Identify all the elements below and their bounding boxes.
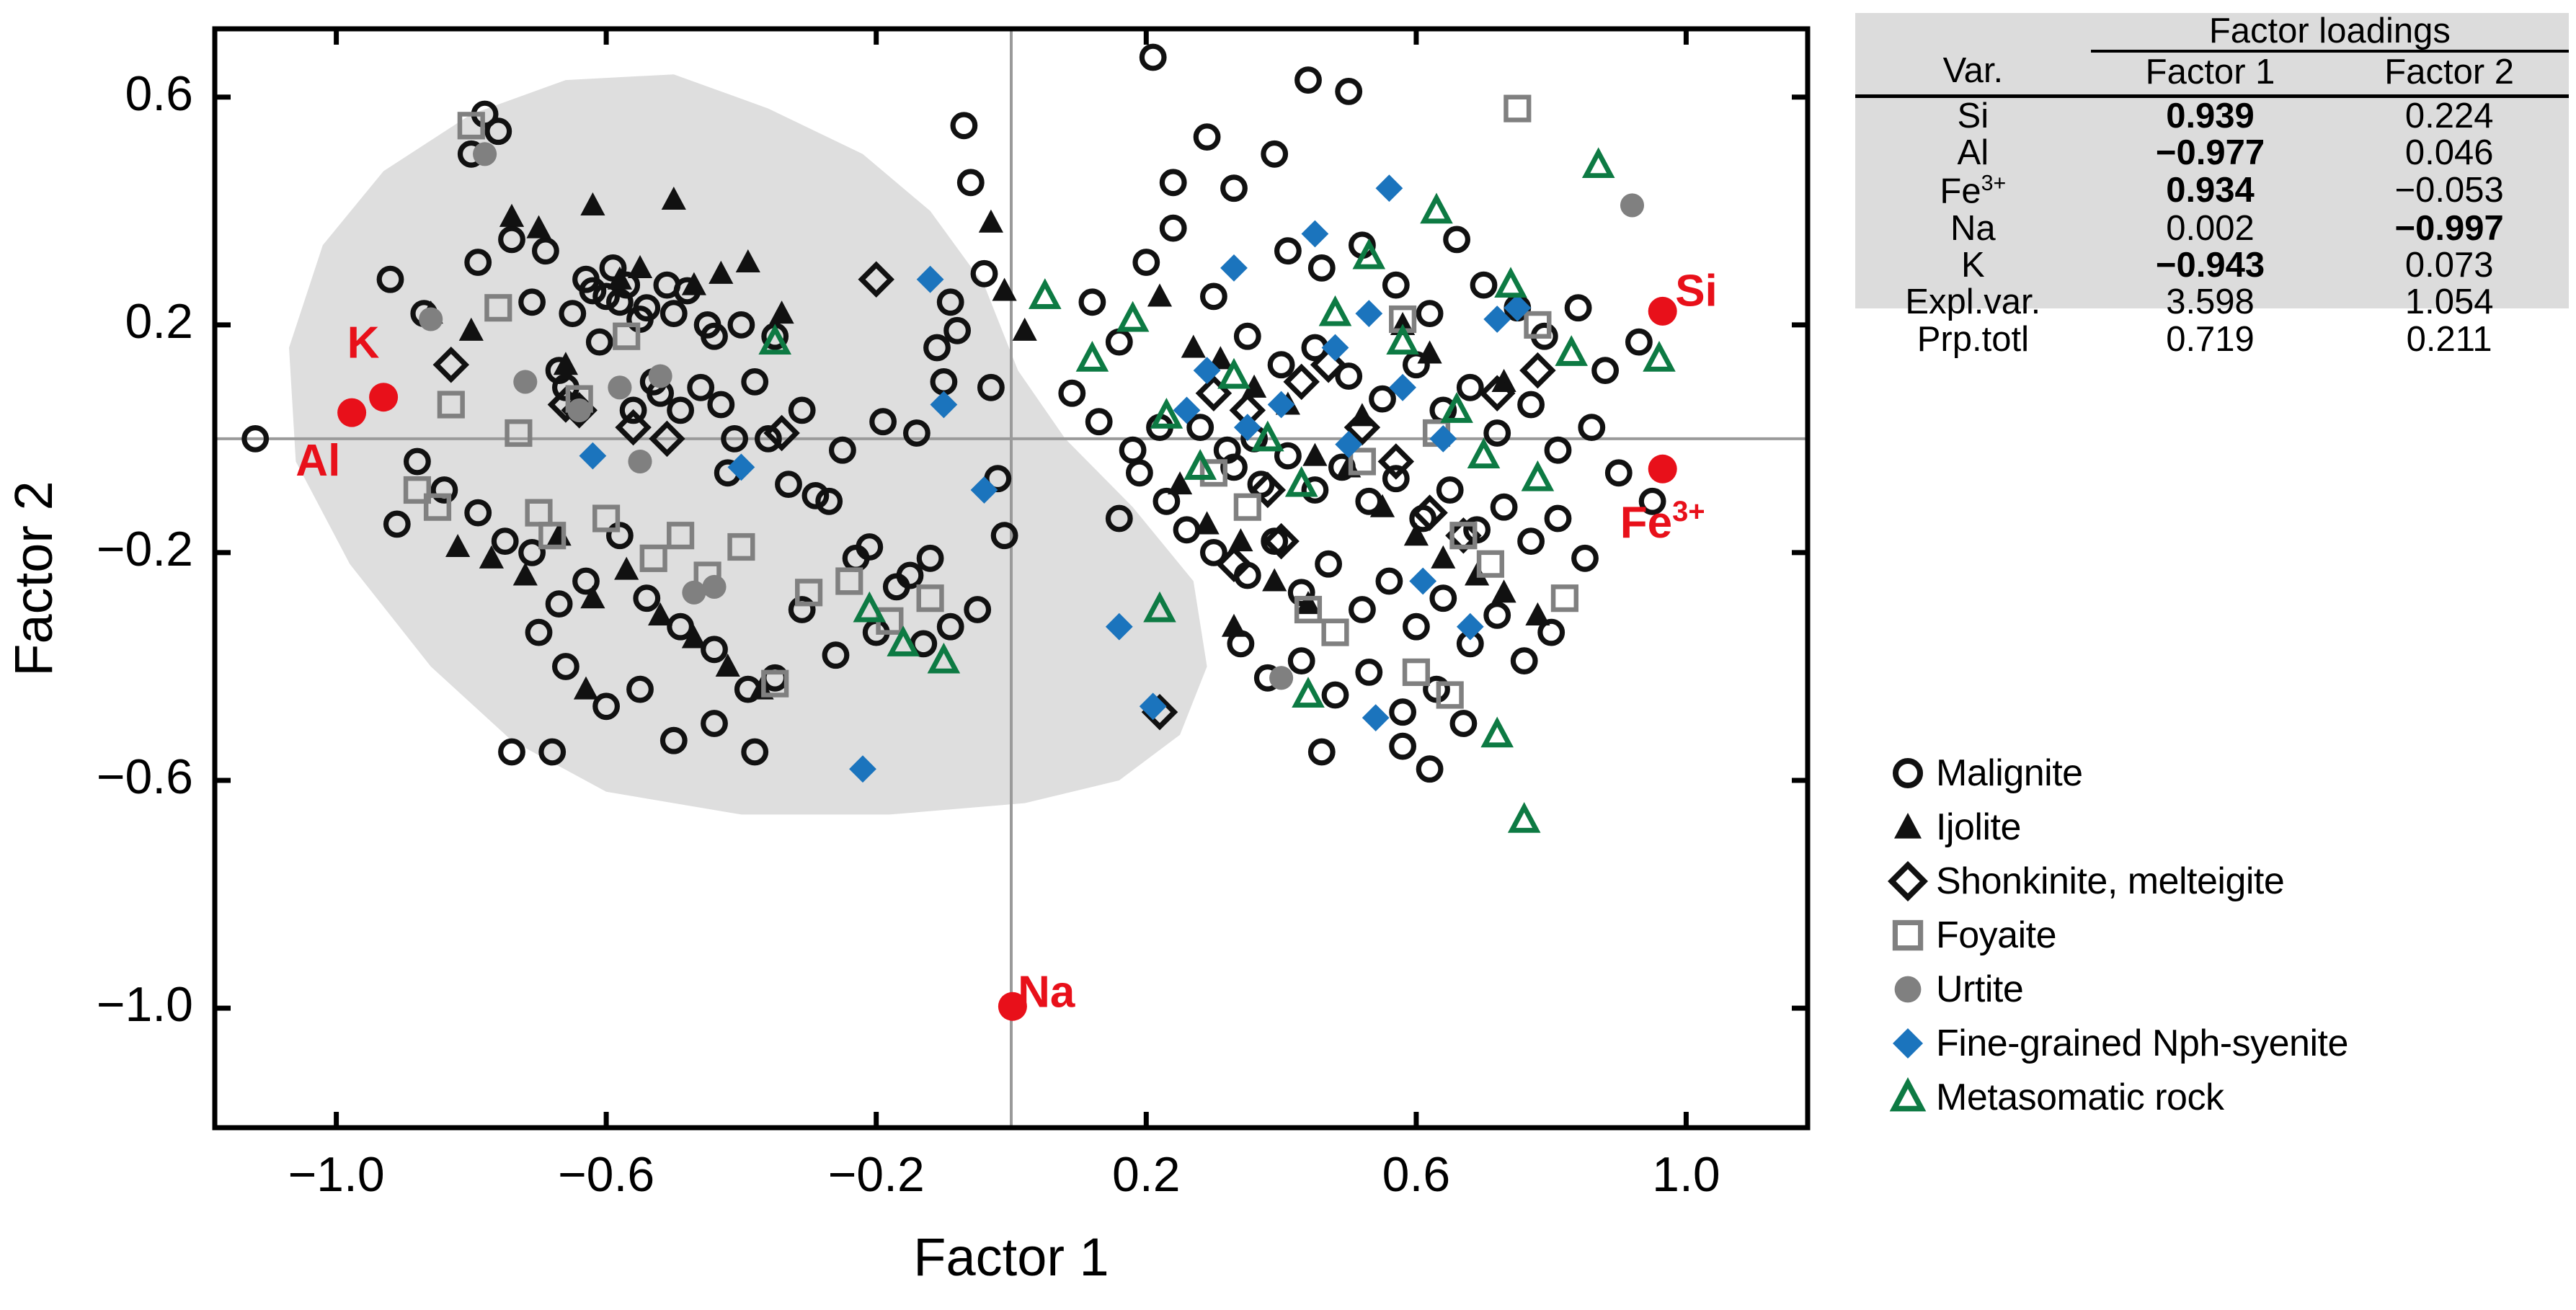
data-point (1385, 274, 1408, 296)
data-point (1302, 220, 1329, 248)
legend-marker-filled-diamond-icon (1880, 1023, 1936, 1064)
scatter-plot: SiAlFe3+NaK−1.0−0.6−0.20.20.61.00.60.2−0… (0, 0, 1845, 1310)
y-tick-label: 0.6 (125, 66, 193, 121)
data-point (1080, 346, 1104, 369)
data-point (1372, 388, 1394, 410)
legend-label: Urtite (1936, 968, 2023, 1011)
data-point (1520, 393, 1542, 416)
legend-marker-filled-circle-icon (1880, 969, 1936, 1010)
data-point (1135, 251, 1158, 274)
legend: MaligniteIjoliteShonkinite, melteigiteFo… (1880, 746, 2572, 1124)
data-point (1236, 496, 1259, 519)
data-point (1405, 615, 1428, 638)
data-point (628, 450, 652, 473)
data-point (1486, 605, 1509, 627)
data-point (1297, 69, 1320, 92)
table-row: Si0.9390.224 (1855, 96, 2569, 135)
data-point (1473, 274, 1495, 296)
data-point (1318, 553, 1340, 575)
data-point (1013, 318, 1037, 341)
data-point (1439, 479, 1461, 502)
table-cell-factor1: 0.934 (2091, 172, 2330, 210)
loading-label-K: K (347, 318, 380, 367)
data-point (1405, 661, 1428, 684)
data-point (501, 741, 523, 763)
data-point (1647, 346, 1671, 369)
data-point (1479, 553, 1502, 576)
data-point (1486, 422, 1509, 445)
data-point (1269, 666, 1293, 690)
data-point (1196, 126, 1218, 148)
legend-marker-open-circle-icon (1880, 753, 1936, 793)
data-point (960, 171, 982, 194)
legend-item[interactable]: Malignite (1880, 746, 2572, 800)
legend-label: Shonkinite, melteigite (1936, 860, 2284, 903)
figure-root: SiAlFe3+NaK−1.0−0.6−0.20.20.61.00.60.2−0… (0, 0, 2576, 1310)
y-axis-label: Factor 2 (4, 481, 63, 676)
table-row: Al−0.9770.046 (1855, 135, 2569, 171)
data-point (1567, 297, 1589, 319)
data-point (1523, 356, 1552, 385)
data-point (1142, 46, 1164, 68)
data-point (1460, 377, 1482, 399)
data-point (1324, 621, 1347, 644)
table-cell-factor1: 0.939 (2091, 96, 2330, 135)
table-row: Prp.totl0.7190.211 (1855, 321, 2569, 358)
data-point (1324, 684, 1346, 706)
data-point (1195, 511, 1220, 534)
data-point (1429, 425, 1457, 453)
table-cell-factor1: 0.719 (2091, 321, 2330, 358)
legend-label: Ijolite (1936, 806, 2021, 849)
table-cell-factor2: −0.053 (2329, 172, 2569, 210)
y-tick-label: −0.6 (97, 749, 193, 804)
data-point (1181, 335, 1206, 358)
table-header-factor2: Factor 2 (2329, 51, 2569, 94)
data-point (1162, 171, 1184, 194)
data-point (1492, 579, 1516, 602)
table-row: Expl.var.3.5981.054 (1855, 284, 2569, 321)
data-point (1506, 97, 1529, 120)
data-point (1418, 303, 1441, 325)
legend-item[interactable]: Shonkinite, melteigite (1880, 854, 2572, 908)
data-point (1452, 713, 1475, 735)
data-point (1355, 300, 1382, 327)
data-point (1061, 382, 1083, 404)
legend-label: Foyaite (1936, 914, 2056, 957)
data-point (1594, 360, 1617, 382)
x-axis-label: Factor 1 (913, 1227, 1109, 1287)
data-point (1262, 569, 1287, 592)
data-point (1498, 272, 1523, 295)
data-point (1121, 306, 1145, 329)
legend-item[interactable]: Fine-grained Nph-syenite (1880, 1016, 2572, 1070)
loading-label-Al: Al (296, 436, 340, 486)
data-point (1176, 519, 1198, 541)
data-point (1485, 722, 1509, 745)
table-cell-var: Expl.var. (1855, 284, 2091, 321)
data-point (1418, 340, 1442, 363)
data-point (1290, 650, 1313, 672)
data-point (1620, 193, 1644, 217)
table-cell-factor2: 0.224 (2329, 96, 2569, 135)
data-point (649, 364, 672, 388)
table-cell-var: K (1855, 247, 2091, 284)
data-point (1270, 354, 1292, 376)
table-cell-factor2: 0.211 (2329, 321, 2569, 358)
data-point (1553, 587, 1576, 610)
data-point (1302, 443, 1327, 466)
data-point (1129, 462, 1151, 484)
data-point (979, 210, 1003, 233)
data-point (1392, 735, 1414, 757)
data-point (1109, 331, 1131, 353)
x-tick-label: −1.0 (288, 1147, 384, 1202)
data-point (608, 375, 631, 399)
data-point (1322, 334, 1349, 362)
data-point (1547, 507, 1569, 530)
table-header-factor1: Factor 1 (2091, 51, 2330, 94)
x-tick-label: 0.6 (1382, 1147, 1451, 1202)
legend-item[interactable]: Ijolite (1880, 800, 2572, 854)
data-point (473, 142, 497, 166)
legend-marker-open-diamond-icon (1880, 861, 1936, 901)
data-point (1439, 684, 1462, 707)
loading-marker-Si (1648, 297, 1677, 326)
table-cell-var: Si (1855, 96, 2091, 135)
table-cell-factor1: 0.002 (2091, 210, 2330, 247)
data-point (1277, 240, 1300, 262)
table-body: Si0.9390.224Al−0.9770.046Fe3+0.934−0.053… (1855, 96, 2569, 358)
loading-label-Na: Na (1018, 967, 1075, 1017)
data-point (1122, 439, 1144, 461)
table-cell-var: Na (1855, 210, 2091, 247)
table-cell-var: Prp.totl (1855, 321, 2091, 358)
shaded-region (289, 74, 1207, 814)
loading-marker-K (369, 383, 398, 411)
data-point (1154, 403, 1178, 426)
data-point (1237, 325, 1259, 347)
table-cell-factor2: 0.046 (2329, 135, 2569, 171)
table-cell-var: Al (1855, 135, 2091, 171)
data-point (1525, 602, 1550, 625)
data-point (1628, 331, 1651, 353)
superscript: 3+ (1981, 171, 2007, 195)
data-point (1547, 439, 1569, 461)
table-header-var: Var. (1855, 13, 2091, 94)
data-point (1471, 443, 1496, 466)
legend-item[interactable]: Urtite (1880, 962, 2572, 1016)
data-point (682, 581, 706, 605)
x-tick-label: −0.6 (558, 1147, 654, 1202)
data-point (1362, 704, 1390, 731)
table-cell-factor1: 3.598 (2091, 284, 2330, 321)
data-point (1512, 807, 1537, 830)
y-tick-label: 0.2 (125, 294, 193, 349)
data-point (1323, 300, 1347, 324)
data-point (1525, 465, 1550, 489)
data-point (1432, 587, 1454, 610)
data-point (1358, 661, 1380, 684)
table-cell-factor1: −0.943 (2091, 247, 2330, 284)
data-point (973, 263, 995, 285)
legend-label: Fine-grained Nph-syenite (1936, 1022, 2348, 1065)
table-cell-factor2: −0.997 (2329, 210, 2569, 247)
data-point (1296, 682, 1320, 705)
table-row: K−0.9430.073 (1855, 247, 2569, 284)
loading-marker-Al (337, 398, 366, 427)
loading-label-Si: Si (1675, 267, 1718, 316)
data-point (1088, 411, 1110, 433)
data-point (1223, 177, 1245, 200)
factor-loadings-table: Var. Factor loadings Factor 1 Factor 2 S… (1855, 13, 2569, 308)
table-row: Na0.002−0.997 (1855, 210, 2569, 247)
legend-item[interactable]: Foyaite (1880, 908, 2572, 962)
data-point (1608, 462, 1630, 484)
data-point (1311, 257, 1333, 280)
data-point (992, 278, 1017, 301)
data-point (1220, 254, 1248, 282)
table-row: Fe3+0.934−0.053 (1855, 172, 2569, 210)
table-cell-factor2: 1.054 (2329, 284, 2569, 321)
data-point (1351, 599, 1374, 621)
table-cell-var: Fe3+ (1855, 172, 2091, 210)
data-point (1033, 283, 1057, 306)
data-point (1311, 741, 1333, 763)
data-point (567, 398, 591, 422)
legend-label: Metasomatic rock (1936, 1076, 2224, 1119)
y-tick-label: −0.2 (97, 522, 193, 576)
data-point (1378, 570, 1400, 592)
data-point (1222, 614, 1246, 637)
data-point (1370, 494, 1395, 517)
data-point (1338, 81, 1360, 103)
data-point (702, 575, 726, 599)
data-point (513, 370, 537, 393)
legend-label: Malignite (1936, 752, 2083, 795)
legend-item[interactable]: Metasomatic rock (1880, 1070, 2572, 1124)
data-point (1162, 217, 1184, 239)
data-point (1586, 153, 1611, 176)
legend-marker-open-square-icon (1880, 915, 1936, 955)
data-point (1424, 198, 1449, 221)
data-point (1376, 174, 1403, 202)
x-tick-label: 1.0 (1652, 1147, 1720, 1202)
data-point (1392, 701, 1414, 723)
right-panel: Var. Factor loadings Factor 1 Factor 2 S… (1845, 0, 2576, 1310)
legend-marker-filled-triangle-icon (1880, 807, 1936, 847)
data-point (1418, 758, 1441, 780)
table-header-group: Factor loadings (2091, 13, 2569, 51)
table-cell-factor2: 0.073 (2329, 247, 2569, 284)
data-point (1559, 340, 1584, 363)
legend-marker-open-triangle-icon (1880, 1077, 1936, 1118)
data-point (1203, 285, 1225, 308)
data-point (1081, 291, 1103, 313)
data-point (1520, 530, 1542, 553)
loading-label-Fe3: Fe3+ (1620, 495, 1705, 548)
y-tick-label: −1.0 (97, 977, 193, 1032)
data-point (1446, 228, 1468, 251)
data-point (953, 115, 975, 137)
data-point (1513, 650, 1535, 672)
data-point (1581, 416, 1603, 439)
x-tick-label: −0.2 (828, 1147, 925, 1202)
data-point (1493, 496, 1515, 518)
data-point (1574, 548, 1596, 570)
data-point (1189, 416, 1212, 439)
x-tick-label: 0.2 (1112, 1147, 1181, 1202)
data-point (1263, 143, 1286, 166)
table-cell-factor1: −0.977 (2091, 135, 2330, 171)
data-point (1147, 283, 1172, 306)
data-point (419, 307, 443, 331)
loading-marker-Fe3 (1648, 455, 1677, 484)
